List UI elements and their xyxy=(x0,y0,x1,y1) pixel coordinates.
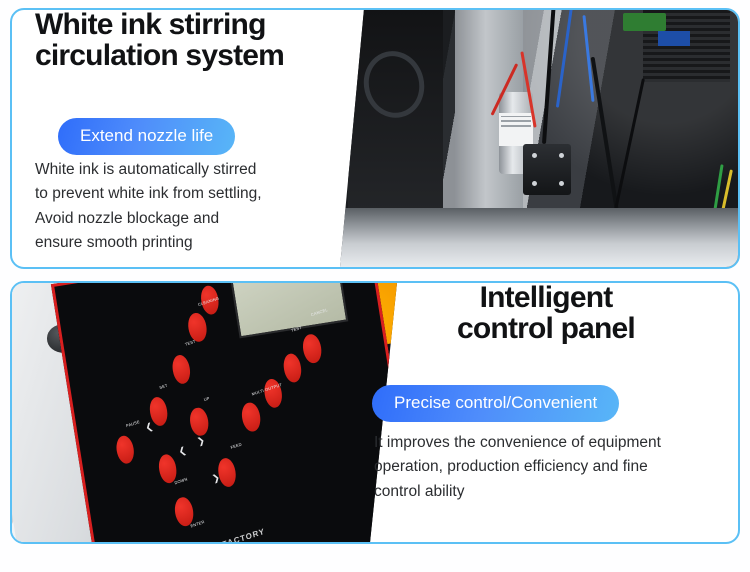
control-panel-photo: ❮ ❮ ❯ ❯ PAUSE SET DOWN ENTER UP TEST CLE… xyxy=(12,283,397,542)
panel-brand-text: DIGITAL PRINTER FACTORY xyxy=(138,527,265,542)
control-panel-body-text: It improves the convenience of equipment… xyxy=(374,431,716,504)
white-ink-text-block: White ink stirring circulation system xyxy=(35,10,365,71)
white-ink-heading: White ink stirring circulation system xyxy=(35,10,365,71)
feature-card-control-panel: ❮ ❮ ❯ ❯ PAUSE SET DOWN ENTER UP TEST CLE… xyxy=(10,281,740,544)
control-panel-heading: Intelligent control panel xyxy=(370,283,722,344)
control-panel-text-block: Intelligent control panel Precise contro… xyxy=(370,283,722,344)
control-panel-image: ❮ ❮ ❯ ❯ PAUSE SET DOWN ENTER UP TEST CLE… xyxy=(12,283,397,542)
feature-card-white-ink: White ink stirring circulation system Ex… xyxy=(10,8,740,269)
white-ink-body-text: White ink is automatically stirred to pr… xyxy=(35,158,355,256)
white-ink-photo xyxy=(340,10,738,267)
control-panel-badge: Precise control/Convenient xyxy=(372,385,619,422)
machine-interior-image xyxy=(340,10,738,267)
promo-page: White ink stirring circulation system Ex… xyxy=(0,0,750,572)
lcd-display xyxy=(229,283,348,339)
white-ink-badge: Extend nozzle life xyxy=(58,118,235,155)
keypad-overlay: ❮ ❮ ❯ ❯ PAUSE SET DOWN ENTER UP TEST CLE… xyxy=(50,283,397,542)
